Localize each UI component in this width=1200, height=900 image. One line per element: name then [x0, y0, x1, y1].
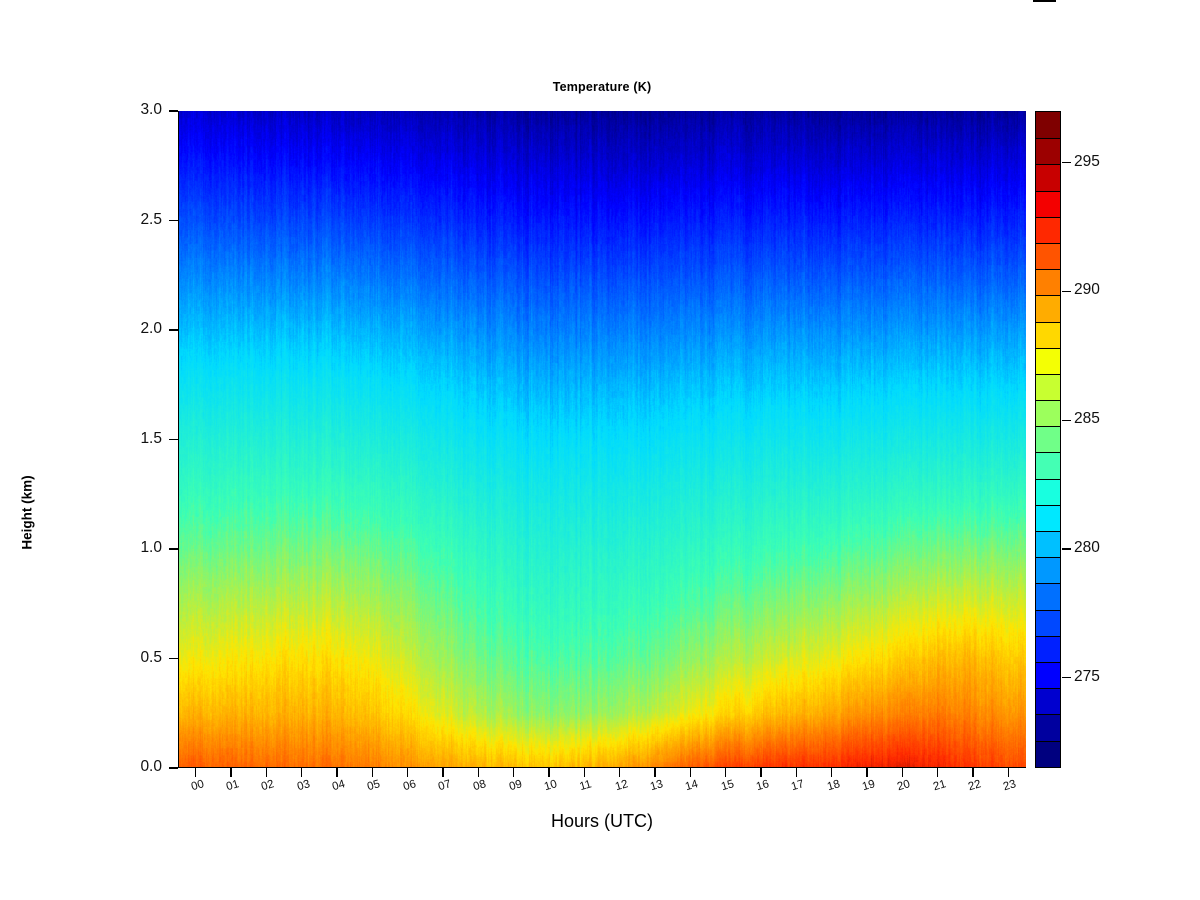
heatmap-plot-area [178, 111, 1026, 768]
x-axis-tick [619, 768, 620, 777]
y-axis-tick-label: 2.0 [118, 320, 162, 338]
x-axis-tick [654, 768, 655, 777]
x-axis-tick-label: 04 [325, 777, 351, 795]
x-axis-tick-label: 18 [820, 777, 846, 795]
x-axis-tick-label: 20 [891, 777, 917, 795]
y-axis-tick [169, 220, 178, 221]
y-axis-tick [169, 439, 178, 440]
x-axis-tick-label: 00 [184, 777, 210, 795]
x-axis-tick [725, 768, 726, 777]
x-axis-tick [478, 768, 479, 777]
y-axis-tick-label: 1.5 [118, 430, 162, 448]
x-axis-tick [230, 768, 231, 777]
x-axis-tick-label: 12 [608, 777, 634, 795]
colorbar-segment [1036, 138, 1060, 164]
x-axis-tick [336, 768, 337, 777]
x-axis-tick [760, 768, 761, 777]
x-axis-tick [548, 768, 549, 777]
x-axis-tick [690, 768, 691, 777]
x-axis-tick-label: 16 [749, 777, 775, 795]
colorbar-tick [1062, 548, 1071, 549]
x-axis-tick-label: 17 [785, 777, 811, 795]
colorbar-segment [1036, 610, 1060, 636]
y-axis-tick [169, 329, 178, 330]
x-axis-tick [513, 768, 514, 777]
colorbar-tick [1062, 420, 1071, 421]
colorbar-segment [1036, 374, 1060, 400]
x-axis-tick-label: 21 [926, 777, 952, 795]
x-axis-tick-label: 22 [961, 777, 987, 795]
colorbar-segment [1036, 583, 1060, 609]
colorbar-segment [1036, 348, 1060, 374]
x-axis-tick-label: 11 [573, 777, 599, 795]
x-axis-tick-label: 15 [714, 777, 740, 795]
y-axis-tick [169, 767, 178, 768]
colorbar-segment [1036, 322, 1060, 348]
colorbar-segment [1036, 741, 1060, 767]
colorbar-segment [1036, 479, 1060, 505]
x-axis-tick [972, 768, 973, 777]
colorbar-tick [1062, 677, 1071, 678]
x-axis-tick [1008, 768, 1009, 777]
x-axis-tick-label: 02 [255, 777, 281, 795]
colorbar-tick-label: 290 [1074, 281, 1100, 299]
colorbar-segment [1036, 269, 1060, 295]
colorbar-segment [1036, 636, 1060, 662]
colorbar-segment [1036, 714, 1060, 740]
colorbar-segment [1036, 164, 1060, 190]
x-axis-tick-label: 19 [855, 777, 881, 795]
chart-canvas: Temperature (K) 0.00.51.01.52.02.53.0 He… [0, 0, 1200, 900]
colorbar-segment [1036, 400, 1060, 426]
x-axis-tick-label: 03 [290, 777, 316, 795]
x-axis-tick-label: 14 [679, 777, 705, 795]
x-axis-tick [195, 768, 196, 777]
x-axis-tick [902, 768, 903, 777]
x-axis-tick [301, 768, 302, 777]
x-axis-tick [584, 768, 585, 777]
colorbar-segment [1036, 531, 1060, 557]
colorbar-segment [1036, 112, 1060, 138]
colorbar-segment [1036, 243, 1060, 269]
colorbar-segment [1036, 505, 1060, 531]
x-axis-tick [442, 768, 443, 777]
y-axis-title: Height (km) [20, 438, 35, 588]
colorbar-segment [1036, 688, 1060, 714]
y-axis-tick-label: 0.5 [118, 649, 162, 667]
y-axis-tick-label: 3.0 [118, 101, 162, 119]
colorbar-segment [1036, 426, 1060, 452]
x-axis-tick [796, 768, 797, 777]
y-axis-tick-label: 2.5 [118, 211, 162, 229]
colorbar-tick-label: 280 [1074, 539, 1100, 557]
x-axis-tick-label: 13 [643, 777, 669, 795]
x-axis-tick [866, 768, 867, 777]
colorbar-tick-label: 295 [1074, 153, 1100, 171]
x-axis-tick [407, 768, 408, 777]
x-axis-tick-label: 06 [396, 777, 422, 795]
colorbar-tick [1062, 291, 1071, 292]
colorbar-segment [1036, 295, 1060, 321]
top-rule-artifact [1033, 0, 1056, 2]
colorbar-segment [1036, 452, 1060, 478]
x-axis-tick-label: 09 [502, 777, 528, 795]
heatmap-image [178, 111, 1026, 768]
x-axis-tick-label: 23 [997, 777, 1023, 795]
colorbar [1035, 111, 1061, 768]
colorbar-segment [1036, 557, 1060, 583]
y-axis-tick-label: 0.0 [118, 758, 162, 776]
x-axis-tick [831, 768, 832, 777]
colorbar-tick-label: 275 [1074, 668, 1100, 686]
colorbar-tick [1062, 162, 1071, 163]
y-axis-tick-label: 1.0 [118, 539, 162, 557]
y-axis-tick [169, 110, 178, 111]
x-axis-tick-label: 10 [537, 777, 563, 795]
x-axis-tick [372, 768, 373, 777]
x-axis-tick [266, 768, 267, 777]
page-title: Temperature (K) [178, 80, 1026, 94]
colorbar-tick-label: 285 [1074, 410, 1100, 428]
colorbar-segment [1036, 191, 1060, 217]
y-axis-tick [169, 548, 178, 549]
x-axis-tick-label: 05 [361, 777, 387, 795]
x-axis-tick-label: 01 [219, 777, 245, 795]
x-axis-tick-label: 08 [467, 777, 493, 795]
x-axis-tick-label: 07 [431, 777, 457, 795]
colorbar-segment [1036, 662, 1060, 688]
x-axis-tick [937, 768, 938, 777]
y-axis-tick [169, 658, 178, 659]
colorbar-segment [1036, 217, 1060, 243]
x-axis-title: Hours (UTC) [178, 811, 1026, 832]
